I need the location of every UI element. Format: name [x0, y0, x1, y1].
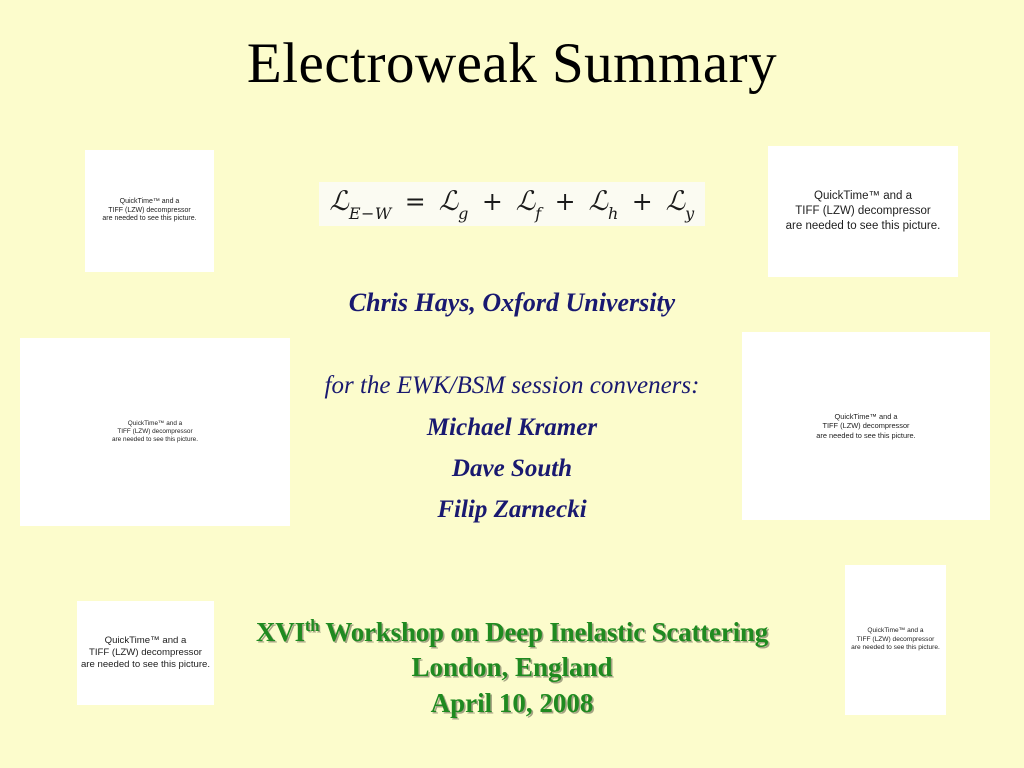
- equation-term-2-symbol: ℒ: [589, 186, 608, 217]
- equation-term-3-symbol: ℒ: [666, 186, 685, 217]
- conference-title-prefix: XVI: [256, 617, 305, 647]
- convener-name-1: Michael Kramer: [0, 414, 1024, 442]
- equation-equals: =: [400, 187, 431, 216]
- equation-term-0-symbol: ℒ: [439, 186, 458, 217]
- conveners-lead-in: for the EWK/BSM session conveners:: [0, 372, 1024, 400]
- conference-location: London, England: [0, 652, 1024, 683]
- presentation-slide: Electroweak Summary QuickTime™ and a TIF…: [0, 0, 1024, 768]
- equation-plus-1: +: [550, 187, 581, 216]
- equation-term-3-subscript: y: [685, 204, 695, 223]
- equation-term-1-symbol: ℒ: [516, 186, 535, 217]
- equation-lhs-subscript: E−W: [349, 204, 392, 223]
- conference-title-rest: Workshop on Deep Inelastic Scattering: [319, 617, 768, 647]
- equation-term-2-subscript: h: [608, 204, 619, 223]
- page-title: Electroweak Summary: [0, 34, 1024, 94]
- equation-term-0-subscript: g: [458, 204, 469, 223]
- lagrangian-equation: ℒE−W = ℒg + ℒf + ℒh + ℒy: [319, 182, 704, 226]
- presenter-name: Chris Hays, Oxford University: [0, 288, 1024, 318]
- conference-title: XVIth Workshop on Deep Inelastic Scatter…: [0, 617, 1024, 648]
- conference-title-superscript: th: [305, 616, 319, 635]
- equation-lhs-symbol: ℒ: [329, 186, 348, 217]
- equation-plus-0: +: [477, 187, 508, 216]
- equation-plus-2: +: [627, 187, 658, 216]
- convener-name-3: Filip Zarnecki: [0, 496, 1024, 524]
- equation-container: ℒE−W = ℒg + ℒf + ℒh + ℒy: [0, 182, 1024, 226]
- conference-date: April 10, 2008: [0, 688, 1024, 719]
- convener-name-2: Dave South: [0, 455, 1024, 483]
- equation-term-1-subscript: f: [535, 204, 541, 223]
